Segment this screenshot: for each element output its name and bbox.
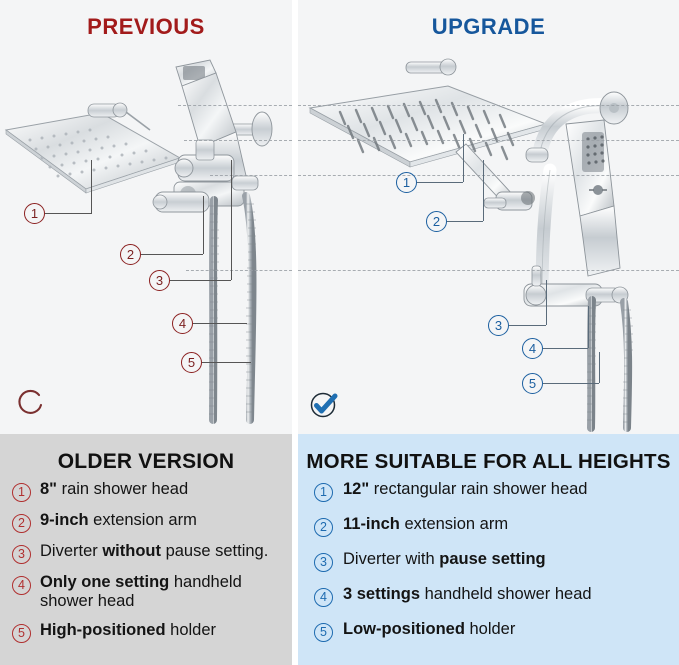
previous-leader-3-v [231,160,232,280]
spec-rest: extension arm [89,511,197,529]
upgrade-leader-2-v [483,160,484,221]
list-item: 3 Diverter without pause setting. [12,542,286,564]
spec-bold: without [102,542,161,560]
upgrade-reference-line-mid [298,175,679,176]
bullet-number: 5 [12,624,31,643]
comparison-infographic: PREVIOUS [0,0,679,665]
previous-column-title: PREVIOUS [0,14,292,40]
previous-spec-panel: OLDER VERSION 1 8" rain shower head 2 9-… [0,434,292,665]
spec-text: 8" rain shower head [40,480,188,499]
bullet-number: 1 [12,483,31,502]
upgrade-callout-3[interactable]: 3 [488,315,509,336]
spec-text: Diverter with pause setting [343,550,546,569]
spec-bold: 3 settings [343,585,420,603]
reference-line-mid [210,175,292,176]
spec-bold: Low-positioned [343,620,465,638]
spec-bold: pause setting [439,550,545,568]
upgrade-reference-line-bottom [298,270,679,271]
list-item: 1 12" rectangular rain shower head [314,480,673,502]
spec-rest: rain shower head [57,480,188,498]
upgrade-reference-line-top [298,105,679,106]
upgrade-callout-4[interactable]: 4 [522,338,543,359]
spec-rest: rectangular rain shower head [369,480,587,498]
list-item: 5 Low-positioned holder [314,620,673,642]
list-item: 4 3 settings handheld shower head [314,585,673,607]
previous-leader-2-v [203,196,204,254]
spec-pre: Diverter [40,542,102,560]
upgrade-callout-5[interactable]: 5 [522,373,543,394]
spec-text: 12" rectangular rain shower head [343,480,587,499]
previous-leader-2 [141,254,203,255]
previous-callout-1[interactable]: 1 [24,203,45,224]
spec-pre: Diverter with [343,550,439,568]
spec-rest: handheld shower head [420,585,592,603]
bullet-number: 2 [12,514,31,533]
upgrade-leader-3 [509,325,546,326]
reference-line-mid-upper [184,140,292,141]
upgrade-panel-heading: MORE SUITABLE FOR ALL HEIGHTS [298,450,679,474]
list-item: 2 9-inch extension arm [12,511,286,533]
previous-callout-5[interactable]: 5 [181,352,202,373]
bullet-number: 1 [314,483,333,502]
spec-text: High-positioned holder [40,621,216,640]
upgrade-reference-line-mid-upper [298,140,679,141]
upgrade-leader-2 [447,221,483,222]
spec-text: Low-positioned holder [343,620,515,639]
bullet-number: 4 [12,576,31,595]
previous-panel-heading: OLDER VERSION [0,450,292,474]
upgrade-leader-3-v [546,280,547,325]
spec-rest: pause setting. [161,542,268,560]
list-item: 2 11-inch extension arm [314,515,673,537]
previous-leader-4 [193,323,247,324]
upgrade-callout-2[interactable]: 2 [426,211,447,232]
bullet-number: 2 [314,518,333,537]
upgrade-column-title: UPGRADE [298,14,679,40]
upgrade-spec-panel: MORE SUITABLE FOR ALL HEIGHTS 1 12" rect… [298,434,679,665]
upgrade-spec-list: 1 12" rectangular rain shower head 2 11-… [298,480,679,642]
upgrade-verdict-mark [306,386,342,422]
previous-callout-3[interactable]: 3 [149,270,170,291]
spec-rest: extension arm [400,515,508,533]
spec-text: Only one setting handheld shower head [40,573,286,612]
list-item: 4 Only one setting handheld shower head [12,573,286,612]
previous-leader-3 [170,280,231,281]
spec-bold: High-positioned [40,621,166,639]
upgrade-leader-5 [543,383,599,384]
previous-leader-5 [202,362,251,363]
previous-verdict-mark [14,386,48,420]
upgrade-leader-5-v [599,352,600,383]
spec-bold: 8" [40,480,57,498]
bullet-number: 4 [314,588,333,607]
previous-leader-1-v [91,160,92,214]
list-item: 3 Diverter with pause setting [314,550,673,572]
previous-callout-4[interactable]: 4 [172,313,193,334]
spec-bold: 9-inch [40,511,89,529]
spec-bold: 12" [343,480,369,498]
list-item: 1 8" rain shower head [12,480,286,502]
previous-leader-1 [45,213,91,214]
spec-rest: holder [465,620,515,638]
upgrade-leader-1-v [463,134,464,182]
bullet-number: 3 [314,553,333,572]
spec-text: 3 settings handheld shower head [343,585,592,604]
previous-callout-2[interactable]: 2 [120,244,141,265]
previous-spec-list: 1 8" rain shower head 2 9-inch extension… [0,480,292,643]
list-item: 5 High-positioned holder [12,621,286,643]
upgrade-illustration-panel: UPGRADE [298,0,679,434]
spec-bold: Only one setting [40,573,169,591]
spec-text: Diverter without pause setting. [40,542,268,561]
upgrade-product-art [298,0,679,434]
previous-illustration-panel: PREVIOUS [0,0,292,434]
reference-line-top [178,105,292,106]
bullet-number: 5 [314,623,333,642]
upgrade-leader-4-v [588,306,589,348]
upgrade-leader-1 [417,182,463,183]
upgrade-leader-4 [543,348,588,349]
spec-bold: 11-inch [343,515,400,533]
spec-text: 11-inch extension arm [343,515,508,534]
bullet-number: 3 [12,545,31,564]
reference-line-bottom [186,270,292,271]
spec-rest: holder [166,621,216,639]
spec-text: 9-inch extension arm [40,511,197,530]
upgrade-callout-1[interactable]: 1 [396,172,417,193]
